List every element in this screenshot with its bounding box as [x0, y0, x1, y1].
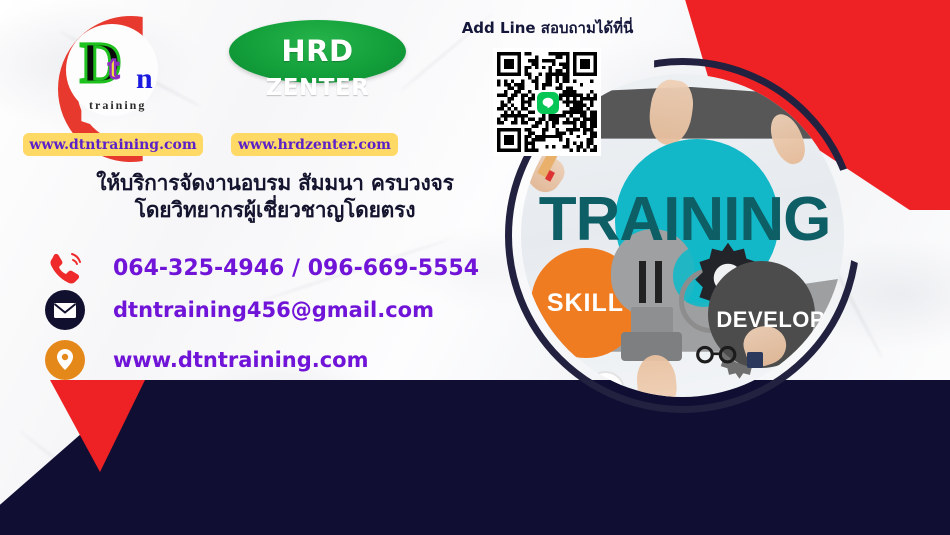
dtn-website-pill[interactable]: www.dtntraining.com — [23, 133, 203, 156]
bubble-label-skill: SKILL — [547, 289, 624, 318]
headline-block: ให้บริการจัดงานอบรม สัมมนา ครบวงจร โดยวิ… — [60, 170, 490, 224]
phone-icon — [45, 248, 85, 288]
logo-letter-t: t — [108, 52, 119, 85]
dtn-training-logo: D t n training — [36, 8, 206, 130]
contact-row-phone: 064-325-4946 / 096-669-5554 — [45, 248, 479, 288]
phone-numbers: 064-325-4946 / 096-669-5554 — [113, 256, 479, 281]
graphic-title: TRAINING — [539, 189, 843, 251]
hrd-zenter-logo: HRD ZENTER — [229, 20, 406, 83]
logo-subtext: training — [89, 98, 146, 113]
email-address: dtntraining456@gmail.com — [113, 298, 434, 322]
bubble-label-develop: DEVELOP — [716, 307, 825, 333]
hrd-part: HRD — [281, 34, 353, 68]
headline-line-1: ให้บริการจัดงานอบรม สัมมนา ครบวงจร — [60, 170, 490, 197]
headline-line-2: โดยวิทยากรผู้เชี่ยวชาญโดยตรง — [60, 197, 490, 224]
location-pin-icon — [45, 340, 85, 380]
line-app-icon — [537, 92, 559, 114]
hrd-zenter-wordmark: HRD ZENTER — [229, 34, 406, 102]
website-url: www.dtntraining.com — [113, 348, 369, 372]
contact-row-email: dtntraining456@gmail.com — [45, 290, 434, 330]
envelope-icon — [45, 290, 85, 330]
contact-row-website: www.dtntraining.com — [45, 340, 369, 380]
hrd-website-pill[interactable]: www.hrdzenter.com — [231, 133, 398, 156]
logo-letter-n: n — [136, 64, 153, 94]
zenter-part: ZENTER — [266, 75, 370, 101]
promotional-banner: TRAINING SKILL DEVELOP D t n training HR… — [0, 0, 950, 535]
add-line-caption: Add Line สอบถามได้ที่นี่ — [440, 16, 655, 40]
